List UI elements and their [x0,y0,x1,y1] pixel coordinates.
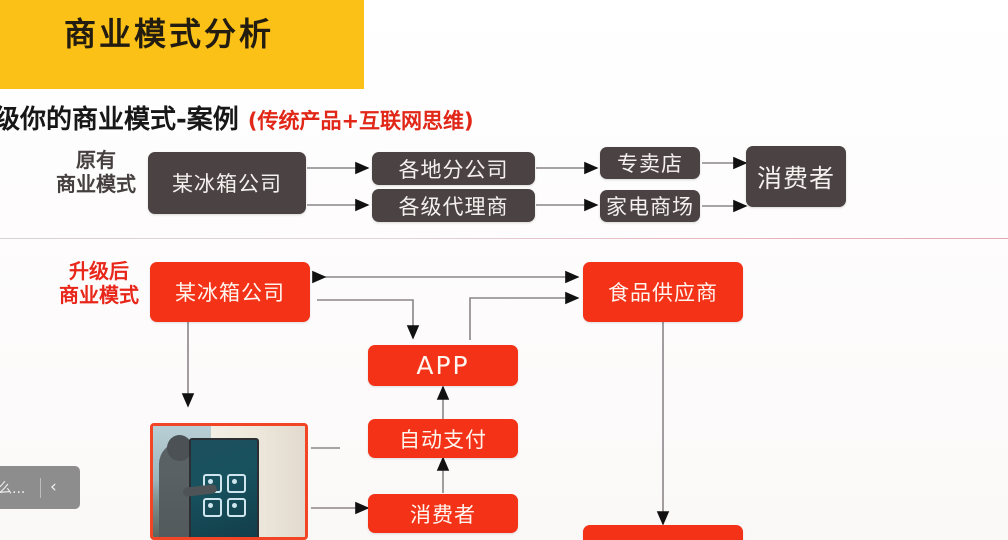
old-model-label: 原有 商业模式 [48,148,144,197]
page-subtitle: 级你的商业模式-案例 (传统产品+互联网思维) [0,99,474,136]
new-model-label-line1: 升级后 [50,259,148,283]
old-model-label-line2: 商业模式 [48,172,144,196]
node-old-company[interactable]: 某冰箱公司 [148,152,306,214]
page-title: 商业模式分析 [64,9,274,55]
node-old-mall[interactable]: 家电商场 [600,190,700,222]
smart-fridge-photo [150,423,308,540]
new-model-label-line2: 商业模式 [50,283,148,307]
node-new-app[interactable]: APP [368,345,518,386]
new-model-label: 升级后 商业模式 [50,259,148,308]
fridge-app-icon-4 [227,498,246,517]
player-title-label: 什么... [0,478,38,498]
slide-canvas: 商业模式分析 级你的商业模式-案例 (传统产品+互联网思维) [0,0,1008,540]
node-old-store[interactable]: 专卖店 [600,147,700,179]
subtitle-main: 级你的商业模式-案例 [0,105,239,135]
chevron-left-icon[interactable]: ‹ [50,479,57,496]
old-model-label-line1: 原有 [48,148,144,172]
node-old-agent[interactable]: 各级代理商 [372,189,535,222]
fridge-app-icon-2 [227,474,246,493]
node-new-supplier[interactable]: 食品供应商 [583,262,743,322]
fridge-app-icon-3 [203,498,222,517]
chip-divider [40,478,41,498]
player-overlay-chip[interactable]: 什么... ‹ [0,466,80,509]
node-new-consumer[interactable]: 消费者 [368,494,518,533]
node-old-consumer[interactable]: 消费者 [746,146,846,207]
node-new-company[interactable]: 某冰箱公司 [150,262,310,322]
node-new-autopay[interactable]: 自动支付 [368,419,518,458]
node-new-cutoff[interactable] [583,525,743,540]
subtitle-accent: (传统产品+互联网思维) [248,109,474,133]
node-old-branch[interactable]: 各地分公司 [372,152,535,185]
section-divider [0,238,1008,239]
